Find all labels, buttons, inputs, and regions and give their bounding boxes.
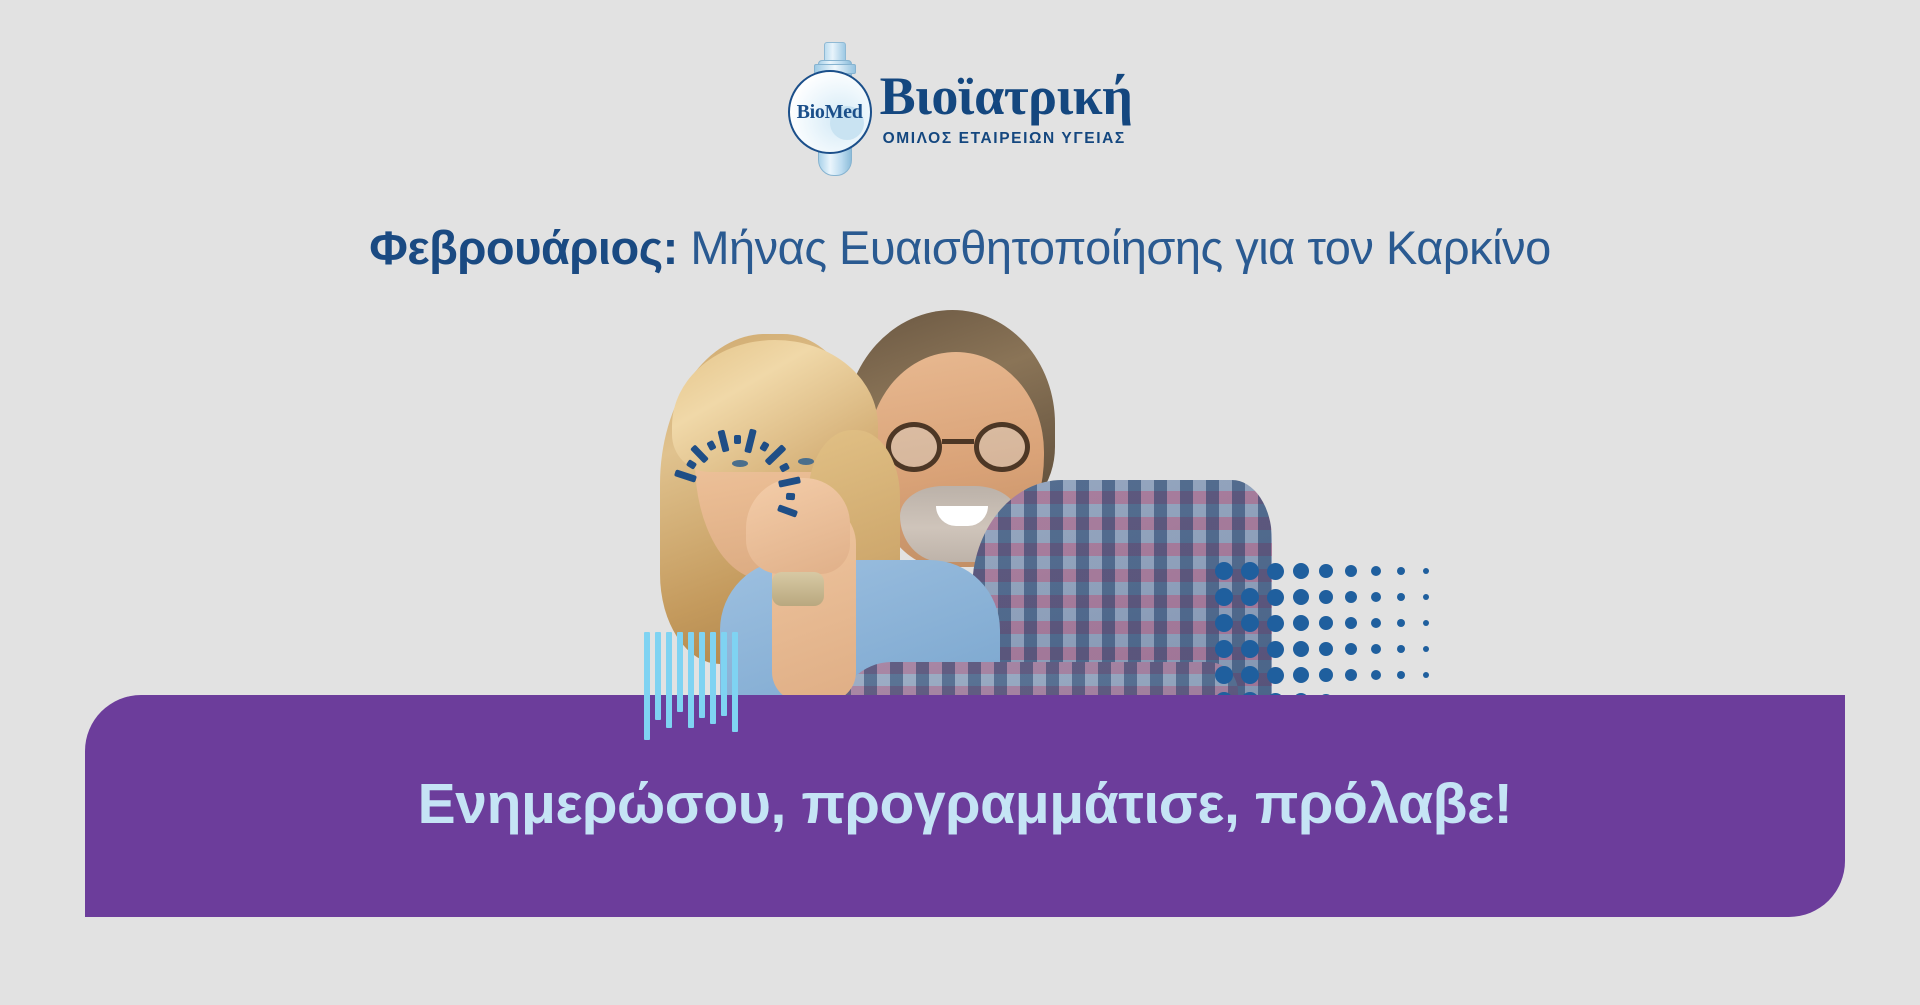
dot-row <box>1215 610 1449 636</box>
brand-logo-words: Βιοϊατρική ΟΜΙΛΟΣ ΕΤΑΙΡΕΙΩΝ ΥΓΕΙΑΣ <box>880 69 1133 148</box>
dot <box>1371 670 1381 680</box>
dot <box>1371 618 1381 628</box>
dot <box>1423 594 1429 600</box>
dot-row <box>1215 662 1449 688</box>
bar-1 <box>644 632 650 740</box>
dot <box>1241 640 1259 658</box>
bar-8 <box>721 632 727 716</box>
headline-subject: Μήνας Ευαισθητοποίησης για τον Καρκίνο <box>678 221 1551 274</box>
dot <box>1293 563 1309 579</box>
dot <box>1397 619 1405 627</box>
bar-5 <box>688 632 694 728</box>
page-title: Φεβρουάριος: Μήνας Ευαισθητοποίησης για … <box>0 222 1920 274</box>
biomed-badge-label: BioMed <box>797 101 863 124</box>
dot <box>1215 640 1233 658</box>
brand-logo-inner: BioMed Βιοϊατρική ΟΜΙΛΟΣ ΕΤΑΙΡΕΙΩΝ ΥΓΕΙΑ… <box>788 38 1133 178</box>
dot <box>1397 593 1405 601</box>
dot <box>1423 672 1429 678</box>
dot <box>1241 666 1259 684</box>
dot <box>1241 614 1259 632</box>
glasses-bridge <box>942 439 974 444</box>
blue-dot-grid-decoration <box>1215 558 1449 714</box>
dot <box>1215 562 1233 580</box>
dot <box>1215 666 1233 684</box>
brand-tagline: ΟΜΙΛΟΣ ΕΤΑΙΡΕΙΩΝ ΥΓΕΙΑΣ <box>880 130 1133 148</box>
dot <box>1267 589 1284 606</box>
dot <box>1371 566 1381 576</box>
dot <box>1241 562 1259 580</box>
dot <box>1371 644 1381 654</box>
biomed-badge-icon: BioMed <box>788 70 872 154</box>
dot <box>1345 591 1357 603</box>
dot <box>1293 667 1309 683</box>
dot <box>1397 645 1405 653</box>
dot <box>1267 641 1284 658</box>
dot <box>1293 615 1309 631</box>
promo-banner-root: BioMed Βιοϊατρική ΟΜΙΛΟΣ ΕΤΑΙΡΕΙΩΝ ΥΓΕΙΑ… <box>0 0 1920 1005</box>
headline-month: Φεβρουάριος: <box>369 221 678 274</box>
dot <box>1319 668 1333 682</box>
brand-name: Βιοϊατρική <box>880 69 1133 123</box>
dot <box>1345 643 1357 655</box>
dot <box>1319 616 1333 630</box>
woman-eye-left <box>732 460 748 467</box>
eyeglasses-icon <box>886 422 1030 472</box>
bar-3 <box>666 632 672 728</box>
glasses-lens-right <box>974 422 1030 472</box>
dot-row <box>1215 558 1449 584</box>
dot <box>1319 564 1333 578</box>
bar-4 <box>677 632 683 712</box>
dot <box>1423 646 1429 652</box>
bar-6 <box>699 632 705 718</box>
woman-eye-right <box>798 458 814 465</box>
dot <box>1293 641 1309 657</box>
dot <box>1267 563 1284 580</box>
dot <box>1345 565 1357 577</box>
dot <box>1267 667 1284 684</box>
dot <box>1267 615 1284 632</box>
dot <box>1423 568 1429 574</box>
dot <box>1397 671 1405 679</box>
dot <box>1319 590 1333 604</box>
dot <box>1319 642 1333 656</box>
dot <box>1345 669 1357 681</box>
test-tube-icon: BioMed <box>788 38 874 178</box>
dot <box>1215 614 1233 632</box>
call-to-action-text: Ενημερώσου, προγραμμάτισε, πρόλαβε! <box>85 771 1845 841</box>
light-blue-bars-decoration <box>644 632 744 740</box>
call-to-action-banner[interactable]: Ενημερώσου, προγραμμάτισε, πρόλαβε! <box>85 695 1845 917</box>
dot <box>1423 620 1429 626</box>
bar-9 <box>732 632 738 732</box>
dot <box>1241 588 1259 606</box>
dot-row <box>1215 584 1449 610</box>
bar-2 <box>655 632 661 720</box>
brand-logo[interactable]: BioMed Βιοϊατρική ΟΜΙΛΟΣ ΕΤΑΙΡΕΙΩΝ ΥΓΕΙΑ… <box>0 38 1920 178</box>
dot <box>1293 589 1309 605</box>
dot <box>1215 588 1233 606</box>
woman-hand-upper <box>746 478 850 574</box>
woman-wristwatch <box>772 572 824 606</box>
dot <box>1397 567 1405 575</box>
dot-row <box>1215 636 1449 662</box>
dot <box>1371 592 1381 602</box>
bar-7 <box>710 632 716 724</box>
dot <box>1345 617 1357 629</box>
